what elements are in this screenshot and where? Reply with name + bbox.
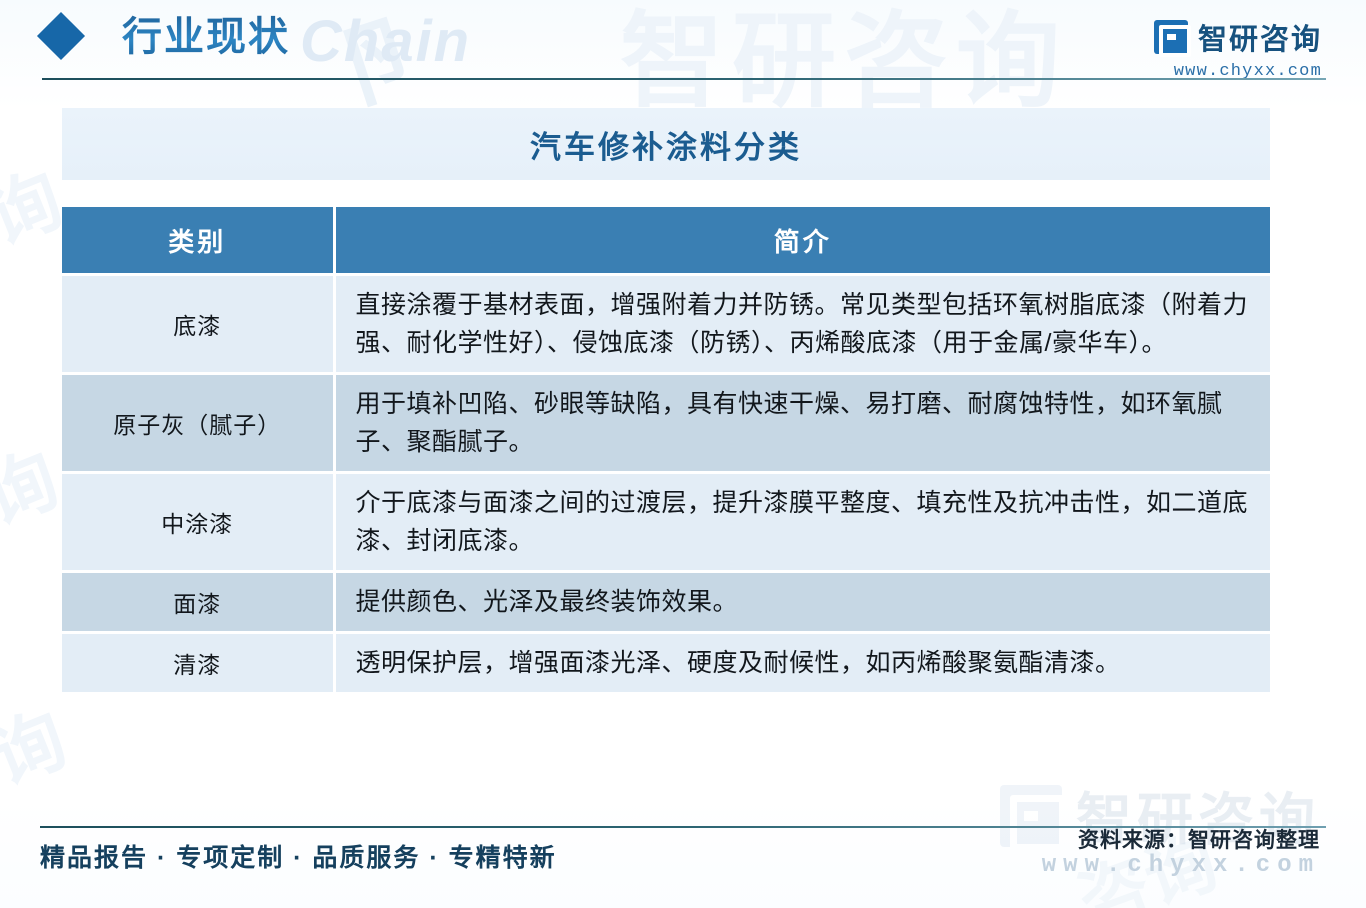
table-row: 底漆 直接涂覆于基材表面，增强附着力并防锈。常见类型包括环氧树脂底漆（附着力强、… bbox=[62, 275, 1270, 374]
column-header-category: 类别 bbox=[62, 207, 334, 275]
page-header: 行业现状 智研咨询 www.chyxx.com bbox=[0, 0, 1366, 80]
cell-description: 用于填补凹陷、砂眼等缺陷，具有快速干燥、易打磨、耐腐蚀特性，如环氧腻子、聚酯腻子… bbox=[334, 374, 1270, 473]
table-row: 清漆 透明保护层，增强面漆光泽、硬度及耐候性，如丙烯酸聚氨酯清漆。 bbox=[62, 633, 1270, 693]
table-header-row: 类别 简介 bbox=[62, 207, 1270, 275]
classification-table: 类别 简介 底漆 直接涂覆于基材表面，增强附着力并防锈。常见类型包括环氧树脂底漆… bbox=[62, 207, 1270, 692]
watermark-char-left-2: 询 bbox=[0, 420, 71, 544]
slide-page: 卪 Chain 智研咨询 询 询 询 咨询 智研咨询 行业现状 智研咨询 www… bbox=[0, 0, 1366, 908]
cell-category: 清漆 bbox=[62, 633, 334, 693]
watermark-logo-icon bbox=[1000, 785, 1062, 847]
table-row: 原子灰（腻子） 用于填补凹陷、砂眼等缺陷，具有快速干燥、易打磨、耐腐蚀特性，如环… bbox=[62, 374, 1270, 473]
chart-title: 汽车修补涂料分类 bbox=[530, 122, 802, 167]
cell-category: 原子灰（腻子） bbox=[62, 374, 334, 473]
diamond-main-icon bbox=[37, 12, 85, 60]
brand-logo-row: 智研咨询 bbox=[1154, 16, 1322, 58]
source-note: 资料来源：智研咨询整理 bbox=[1078, 824, 1320, 854]
page-title: 行业现状 bbox=[122, 10, 290, 64]
diamond-icon bbox=[40, 10, 104, 64]
table-body: 底漆 直接涂覆于基材表面，增强附着力并防锈。常见类型包括环氧树脂底漆（附着力强、… bbox=[62, 275, 1270, 693]
header-divider bbox=[42, 78, 1326, 80]
footer-url: www.chyxx.com bbox=[1042, 852, 1320, 879]
cell-description: 直接涂覆于基材表面，增强附着力并防锈。常见类型包括环氧树脂底漆（附着力强、耐化学… bbox=[334, 275, 1270, 374]
footer-tagline: 精品报告 · 专项定制 · 品质服务 · 专精特新 bbox=[40, 838, 557, 874]
cell-description: 介于底漆与面漆之间的过渡层，提升漆膜平整度、填充性及抗冲击性，如二道底漆、封闭底… bbox=[334, 473, 1270, 572]
chart-title-band: 汽车修补涂料分类 bbox=[62, 108, 1270, 180]
cell-category: 中涂漆 bbox=[62, 473, 334, 572]
cell-category: 底漆 bbox=[62, 275, 334, 374]
watermark-char-left-3: 询 bbox=[0, 680, 79, 804]
company-logo-icon bbox=[1154, 20, 1188, 54]
table-row: 面漆 提供颜色、光泽及最终装饰效果。 bbox=[62, 572, 1270, 633]
table-head: 类别 简介 bbox=[62, 207, 1270, 275]
cell-description: 透明保护层，增强面漆光泽、硬度及耐候性，如丙烯酸聚氨酯清漆。 bbox=[334, 633, 1270, 693]
brand-logo[interactable]: 智研咨询 www.chyxx.com bbox=[1154, 16, 1322, 81]
section-heading-group: 行业现状 bbox=[40, 10, 290, 64]
table-row: 中涂漆 介于底漆与面漆之间的过渡层，提升漆膜平整度、填充性及抗冲击性，如二道底漆… bbox=[62, 473, 1270, 572]
company-name: 智研咨询 bbox=[1198, 16, 1322, 58]
cell-category: 面漆 bbox=[62, 572, 334, 633]
cell-description: 提供颜色、光泽及最终装饰效果。 bbox=[334, 572, 1270, 633]
column-header-description: 简介 bbox=[334, 207, 1270, 275]
